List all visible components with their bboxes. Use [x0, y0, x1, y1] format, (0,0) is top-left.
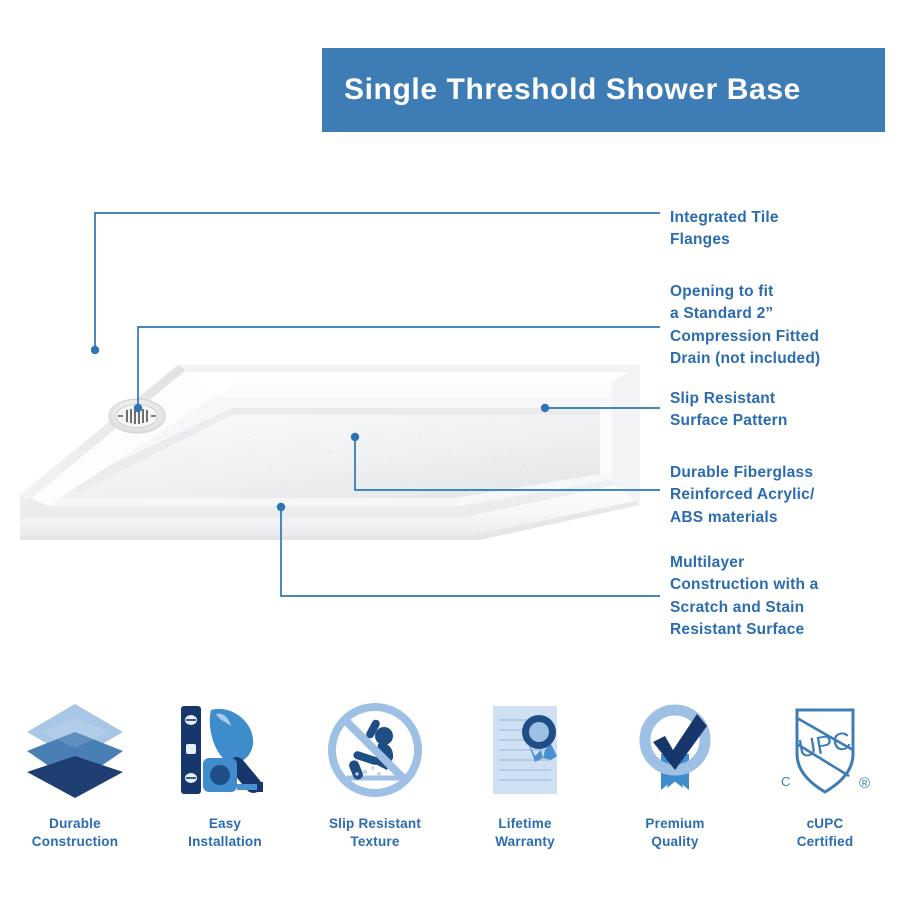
- tools-icon: [171, 695, 279, 805]
- callout-drain-opening: Opening to fit a Standard 2” Compression…: [670, 281, 820, 371]
- award-check-icon: [621, 695, 729, 805]
- layers-icon: [21, 695, 129, 805]
- callout-durable-materials: Durable Fiberglass Reinforced Acrylic/ A…: [670, 462, 815, 529]
- feature-premium-quality: Premium Quality: [600, 695, 750, 851]
- upc-shield-icon: UPC C ®: [771, 695, 879, 805]
- feature-cupc-certified: UPC C ® cUPC Certified: [750, 695, 900, 851]
- feature-label: Slip Resistant Texture: [329, 815, 421, 851]
- callout-slip-resistant-surface: Slip Resistant Surface Pattern: [670, 388, 788, 433]
- upc-suffix-text: ®: [859, 775, 870, 792]
- feature-row: Durable Construction: [0, 695, 900, 875]
- infographic-root: Single Threshold Shower Base: [0, 0, 900, 900]
- feature-slip-resistant: Slip Resistant Texture: [300, 695, 450, 851]
- feature-label: Premium Quality: [645, 815, 704, 851]
- upc-prefix-text: C: [781, 774, 790, 789]
- feature-durable-construction: Durable Construction: [0, 695, 150, 851]
- feature-label: Durable Construction: [32, 815, 118, 851]
- certificate-icon: [471, 695, 579, 805]
- upc-shield-text: UPC: [796, 727, 853, 764]
- callout-integrated-tile-flanges: Integrated Tile Flanges: [670, 207, 779, 252]
- feature-easy-installation: Easy Installation: [150, 695, 300, 851]
- no-slip-icon: [321, 695, 429, 805]
- feature-label: cUPC Certified: [797, 815, 854, 851]
- feature-label: Easy Installation: [188, 815, 262, 851]
- feature-lifetime-warranty: Lifetime Warranty: [450, 695, 600, 851]
- feature-label: Lifetime Warranty: [495, 815, 555, 851]
- callout-multilayer-construction: Multilayer Construction with a Scratch a…: [670, 552, 818, 642]
